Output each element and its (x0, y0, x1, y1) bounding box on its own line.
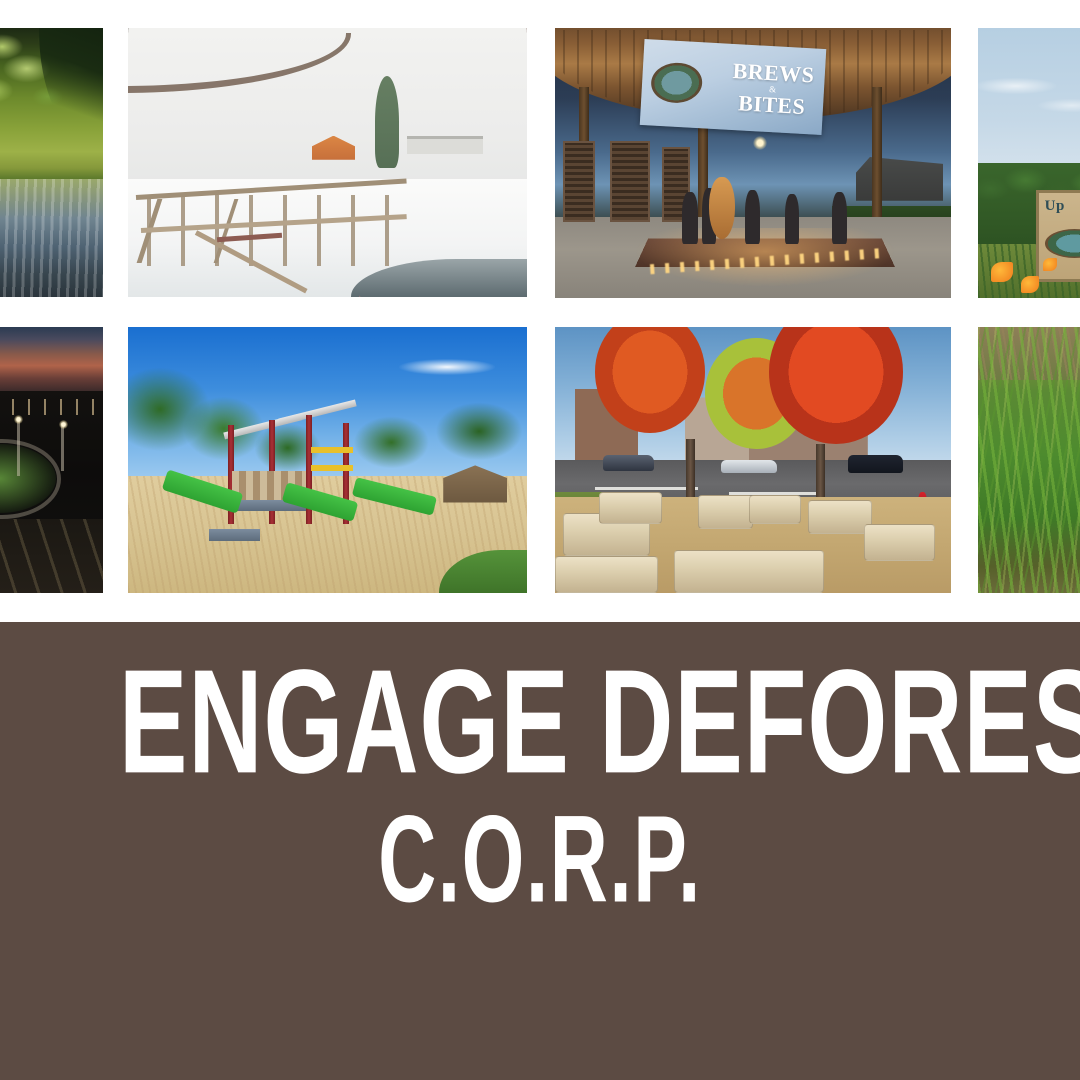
musician (682, 192, 698, 244)
creek-photo (0, 28, 103, 297)
playground-photo (128, 327, 527, 593)
dusk-horizon (0, 327, 103, 396)
limestone-boulder (674, 550, 824, 593)
pavilion-column (872, 87, 882, 238)
photo-collage: BREWS & BITES (0, 0, 1080, 622)
limestone-boulder (749, 495, 800, 524)
play-climber-rail (311, 447, 353, 453)
park-sign-photo: Up (978, 28, 1080, 298)
daylily-leaves (978, 327, 1080, 593)
limestone-boulder (698, 495, 753, 530)
brews-scene: BREWS & BITES (555, 28, 951, 298)
limestone-boulder (864, 524, 935, 561)
sign-label: Up (1045, 198, 1065, 215)
banner-line1: BREWS (732, 60, 815, 87)
parking-stripe (595, 487, 698, 490)
musician (832, 192, 847, 244)
musician (745, 190, 760, 244)
musician (785, 194, 799, 244)
parked-suv (848, 455, 903, 474)
limestone-boulder (808, 500, 871, 535)
limestone-boulder (599, 492, 662, 524)
daylily-flower (1043, 258, 1057, 271)
title-band: ENGAGE DEFOREST! C.O.R.P. (0, 622, 1080, 1080)
limestone-boulder (555, 556, 658, 593)
parked-truck (603, 455, 654, 471)
distant-lights (0, 399, 103, 415)
village-seal-icon (1045, 229, 1080, 258)
parked-car (721, 460, 776, 473)
daylily-flower (1021, 276, 1039, 293)
street-lamp-icon (753, 136, 767, 150)
autumn-street-photo (555, 327, 951, 593)
playground-scene (128, 327, 527, 593)
night-field-photo (0, 327, 103, 593)
winter-scene (128, 28, 527, 297)
brews-and-bites-banner: BREWS & BITES (640, 39, 827, 135)
field-light-pole (61, 423, 64, 471)
daylily-flower (991, 262, 1013, 282)
green-slide (352, 477, 437, 515)
autumn-scene (555, 327, 951, 593)
decorative-screen (610, 141, 650, 222)
banner-line2: BITES (738, 93, 806, 119)
play-structure (200, 417, 431, 550)
clouds (978, 60, 1080, 125)
winter-bridge-photo (128, 28, 527, 297)
headline-corp: C.O.R.P. (151, 798, 929, 921)
play-step (209, 529, 260, 541)
play-climber-rail (311, 465, 353, 471)
park-sign-scene: Up (978, 28, 1080, 298)
field-light-pole (17, 417, 20, 476)
headline-engage-deforest: ENGAGE DEFOREST! (119, 648, 961, 796)
night-scene (0, 327, 103, 593)
foliage-scene (978, 327, 1080, 593)
decorative-screen (563, 141, 595, 222)
creek-scene (0, 28, 103, 297)
field-light-icon (59, 420, 68, 429)
parking-lot (0, 519, 103, 593)
creek-water (0, 179, 103, 297)
winter-foreground-twigs (359, 28, 527, 297)
poster-canvas: BREWS & BITES (0, 0, 1080, 1080)
village-seal-icon (650, 62, 703, 104)
daylily-foliage-photo (978, 327, 1080, 593)
brews-and-bites-photo: BREWS & BITES (555, 28, 951, 298)
